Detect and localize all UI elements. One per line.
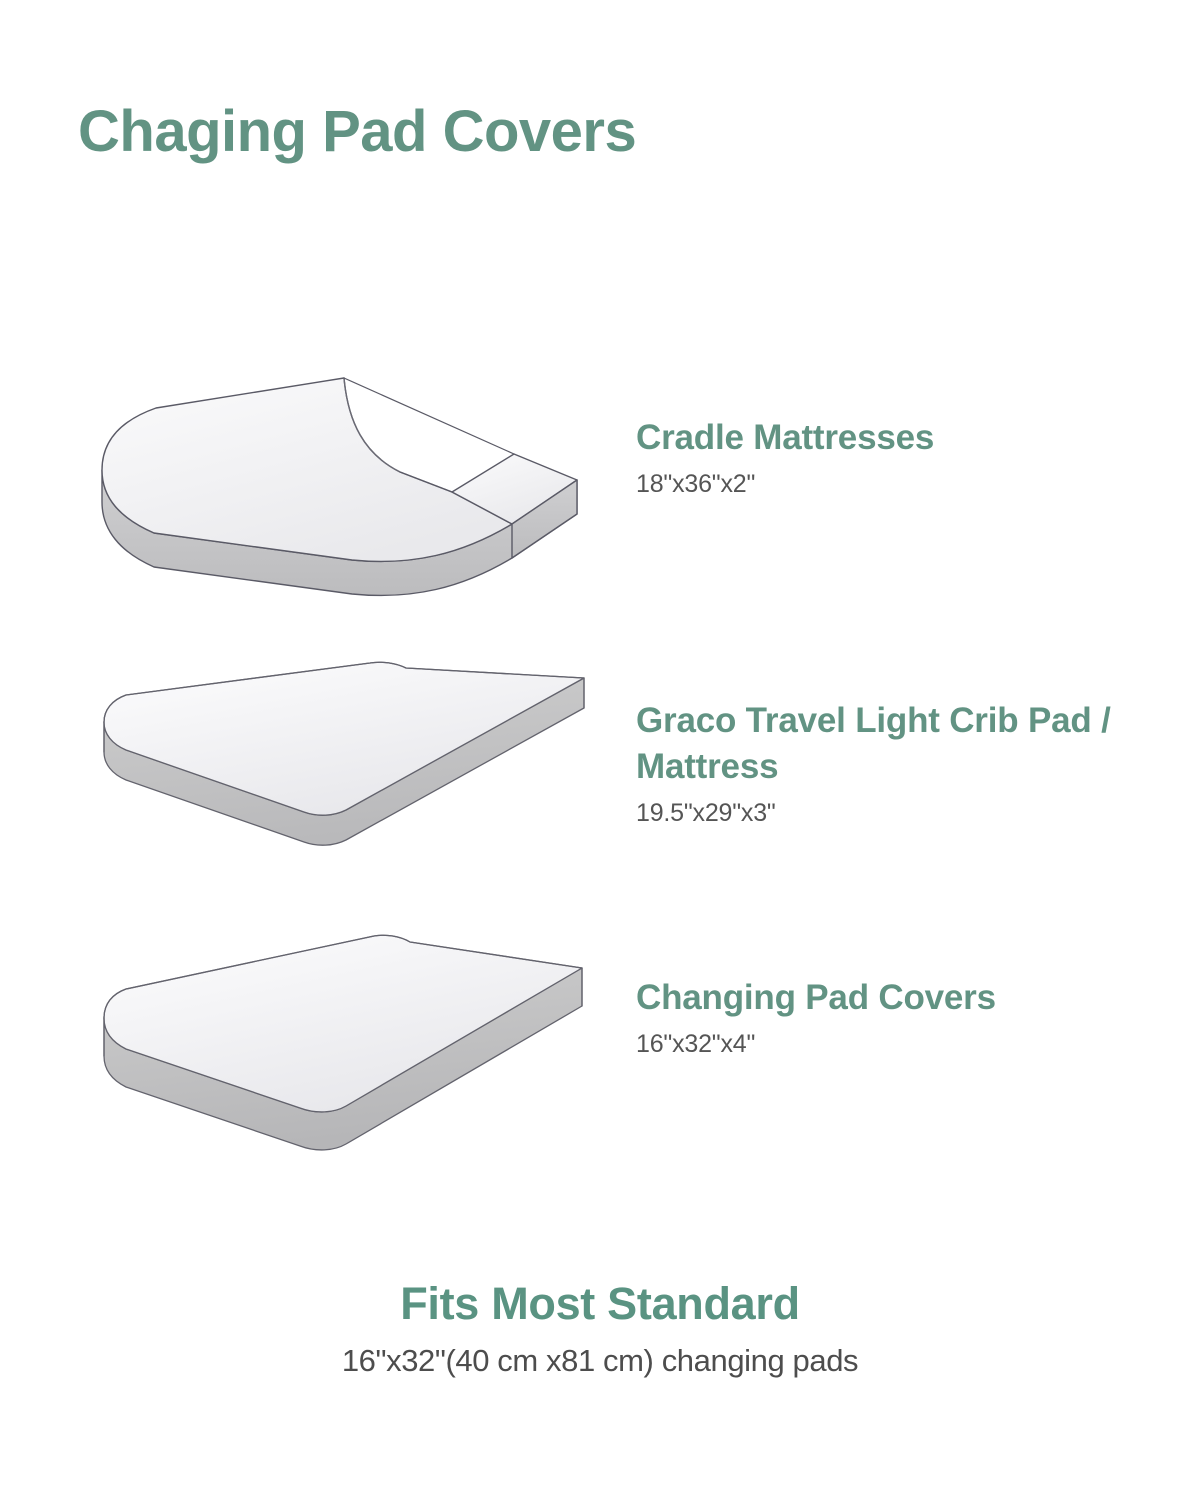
product-title: Changing Pad Covers bbox=[636, 975, 1166, 1021]
product-dimensions: 18"x36"x2" bbox=[636, 467, 1166, 501]
product-title: Cradle Mattresses bbox=[636, 415, 1166, 461]
flat-mattress-thick-illustration bbox=[82, 930, 612, 1170]
footer-subtitle: 16"x32"(40 cm x81 cm) changing pads bbox=[0, 1340, 1200, 1382]
product-label-group: Cradle Mattresses 18"x36"x2" bbox=[636, 415, 1166, 501]
product-row: Graco Travel Light Crib Pad / Mattress 1… bbox=[0, 660, 1200, 900]
product-dimensions: 19.5"x29"x3" bbox=[636, 796, 1166, 830]
infographic-page: Chaging Pad Covers bbox=[0, 0, 1200, 1500]
product-dimensions: 16"x32"x4" bbox=[636, 1027, 1166, 1061]
product-title: Graco Travel Light Crib Pad / Mattress bbox=[636, 698, 1166, 790]
product-label-group: Graco Travel Light Crib Pad / Mattress 1… bbox=[636, 698, 1166, 830]
product-label-group: Changing Pad Covers 16"x32"x4" bbox=[636, 975, 1166, 1061]
footer: Fits Most Standard 16"x32"(40 cm x81 cm)… bbox=[0, 1276, 1200, 1382]
footer-title: Fits Most Standard bbox=[0, 1276, 1200, 1332]
page-title: Chaging Pad Covers bbox=[78, 97, 636, 167]
contoured-changing-pad-illustration bbox=[82, 362, 612, 602]
product-row: Changing Pad Covers 16"x32"x4" bbox=[0, 930, 1200, 1170]
product-row: Cradle Mattresses 18"x36"x2" bbox=[0, 362, 1200, 602]
flat-mattress-thin-illustration bbox=[82, 660, 612, 900]
